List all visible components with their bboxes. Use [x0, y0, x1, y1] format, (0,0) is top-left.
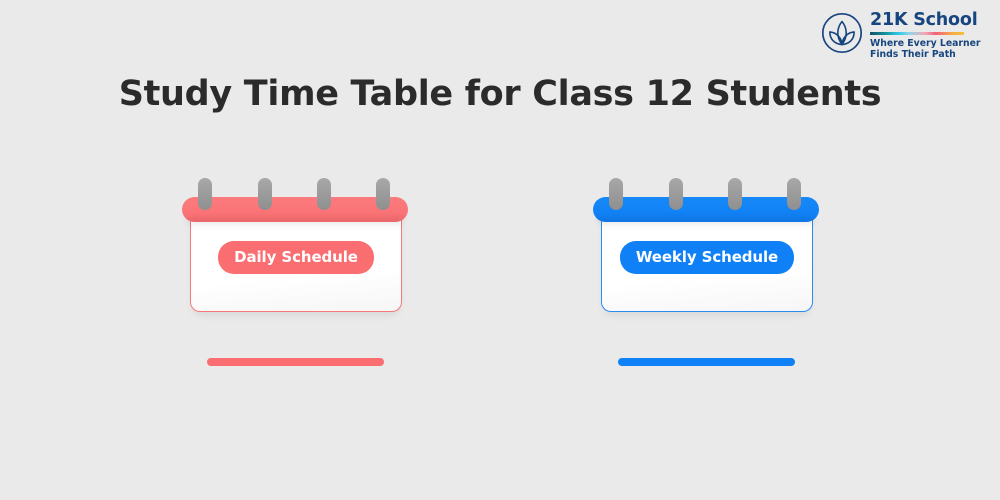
calendar-header-bar-daily	[182, 197, 408, 222]
brand-name: 21K School	[870, 12, 981, 30]
calendar-card-daily[interactable]: Daily Schedule	[182, 178, 408, 370]
calendar-header-bar-weekly	[593, 197, 819, 222]
calendar-body-weekly: Weekly Schedule	[601, 216, 813, 312]
lotus-in-circle-icon	[820, 11, 864, 55]
brand-logo[interactable]: 21K School Where Every Learner Finds The…	[820, 9, 980, 61]
brand-underline-gradient	[870, 32, 964, 35]
weekly-schedule-label[interactable]: Weekly Schedule	[620, 241, 794, 274]
page-title: Study Time Table for Class 12 Students	[0, 74, 1000, 114]
brand-tagline-line-2: Finds Their Path	[870, 49, 981, 60]
brand-tagline-line-1: Where Every Learner	[870, 38, 981, 49]
calendar-base-bar-weekly	[618, 358, 795, 366]
calendar-base-bar-daily	[207, 358, 384, 366]
calendar-body-daily: Daily Schedule	[190, 216, 402, 312]
daily-schedule-label[interactable]: Daily Schedule	[218, 241, 374, 274]
brand-text-block: 21K School Where Every Learner Finds The…	[870, 9, 981, 60]
calendar-card-weekly[interactable]: Weekly Schedule	[593, 178, 819, 370]
